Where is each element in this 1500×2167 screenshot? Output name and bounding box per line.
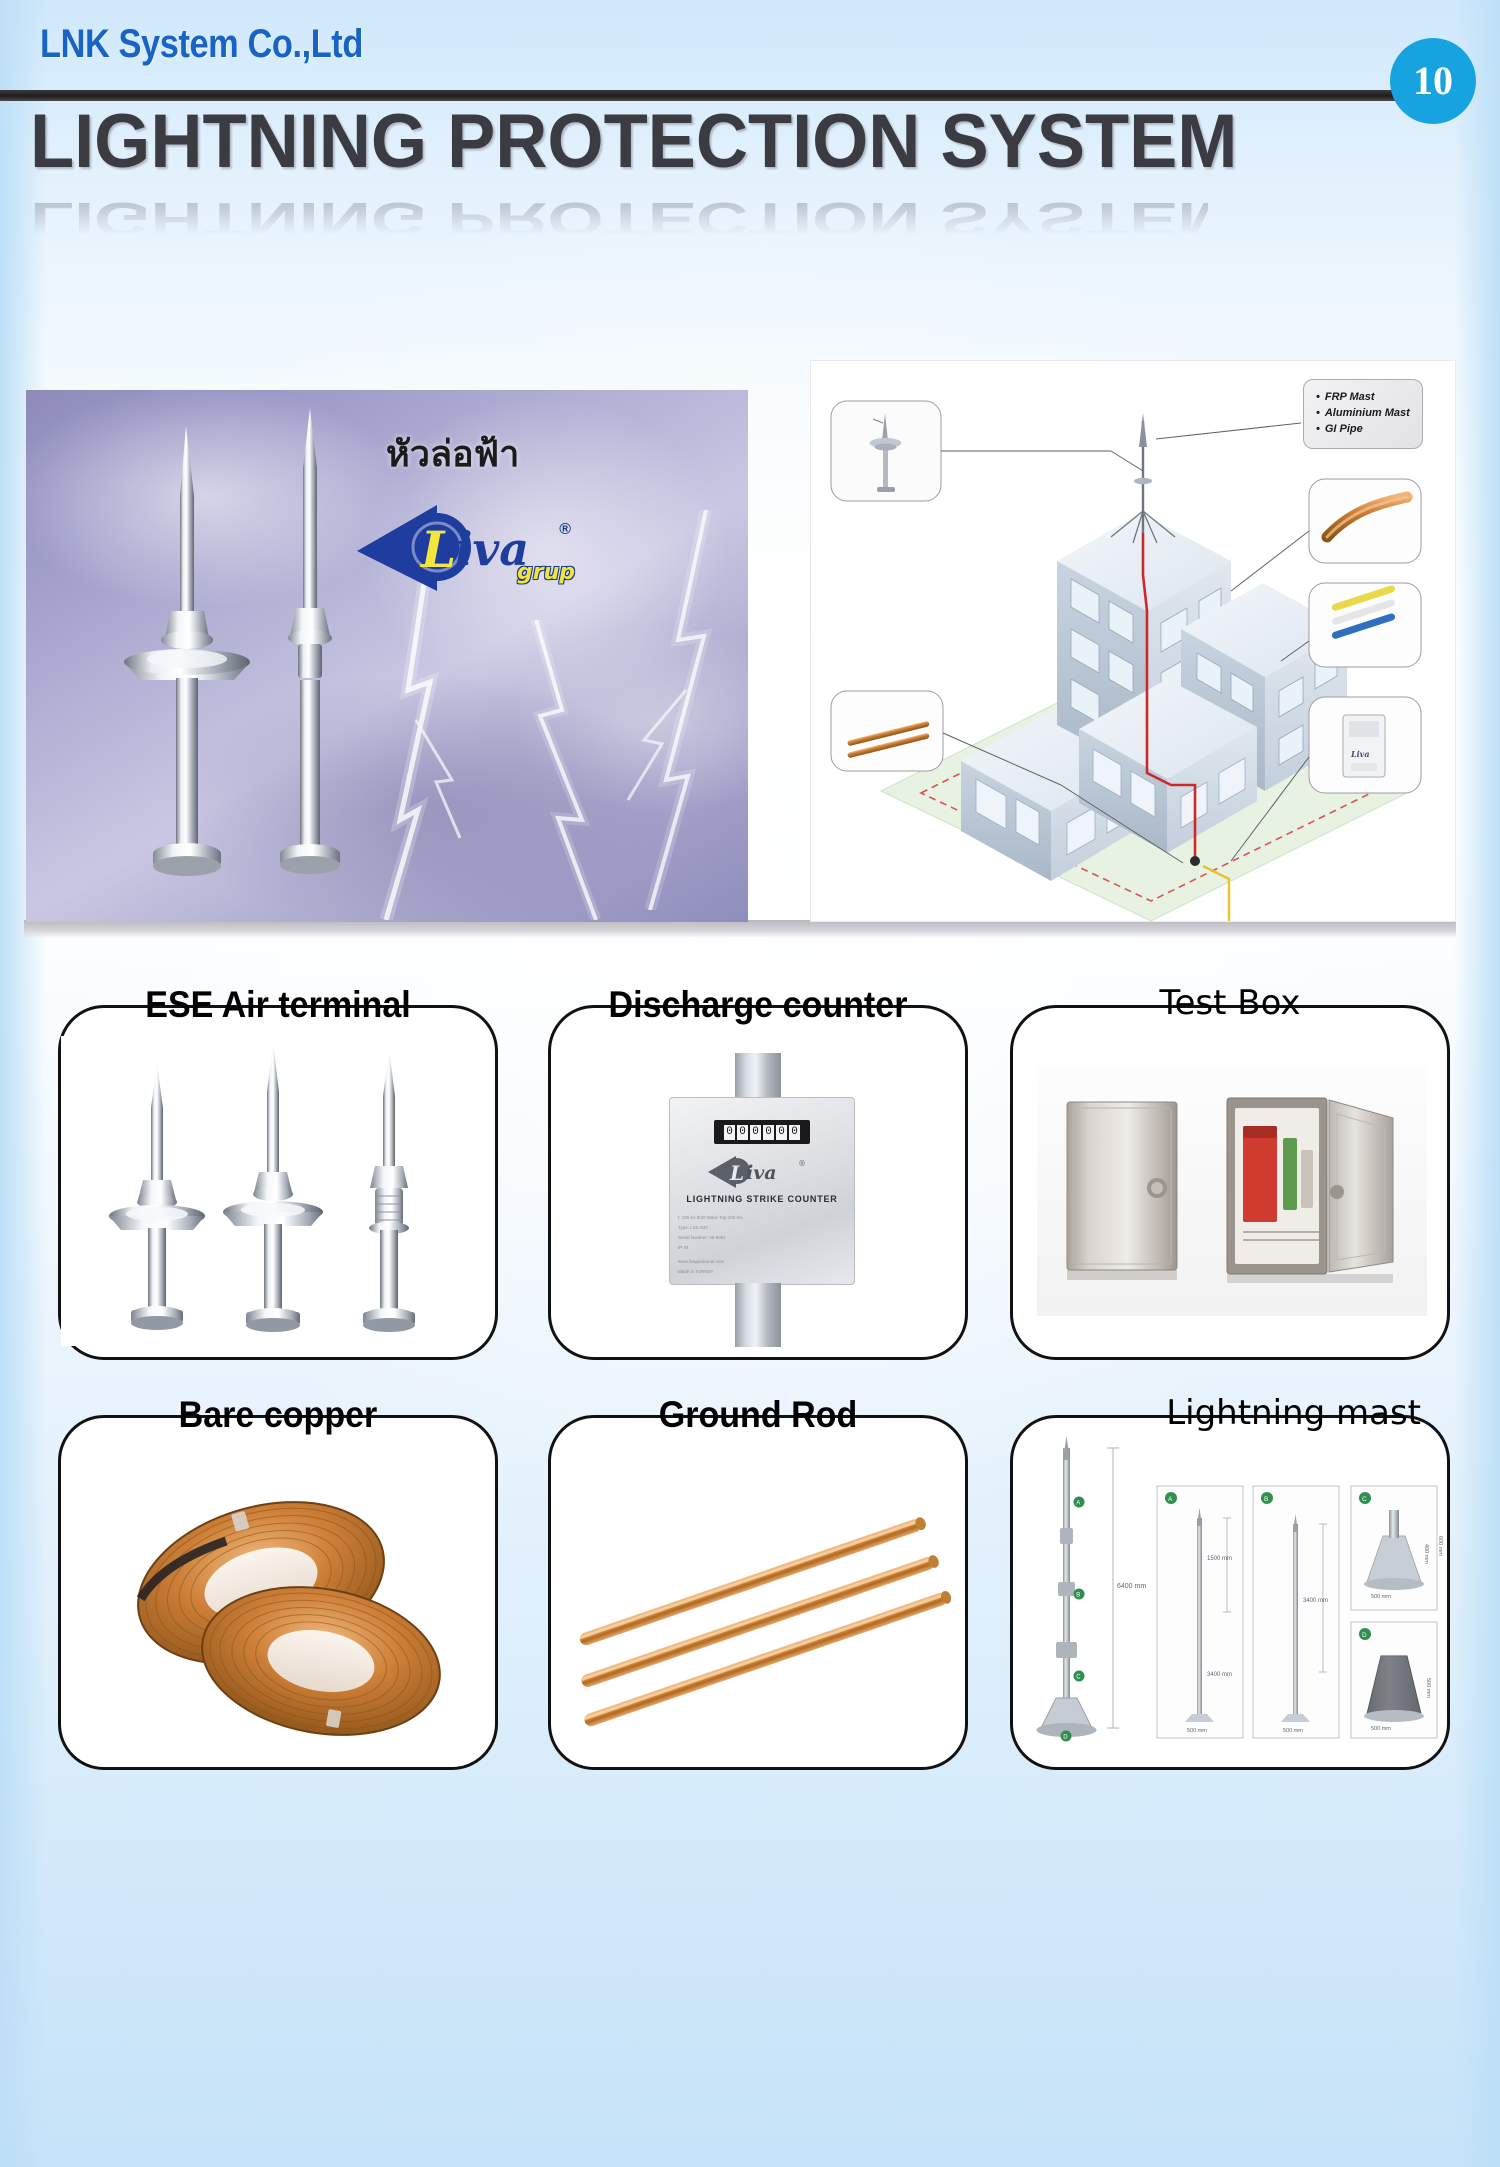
counter-digit: 0 bbox=[776, 1125, 787, 1140]
card-media-test-box bbox=[1037, 1066, 1427, 1316]
product-card-ese-air-terminal[interactable]: ESE Air terminal bbox=[58, 1005, 498, 1360]
svg-text:B: B bbox=[1076, 1593, 1080, 1599]
storm-photo: หัวล่อฟ้า L iva ® grup bbox=[26, 390, 748, 922]
counter-spec-line: I: 100 kA 8/20 Wave Top 100 ms bbox=[678, 1214, 743, 1221]
svg-text:A: A bbox=[1076, 1501, 1080, 1507]
card-title-lightning-mast: Lightning mast bbox=[1013, 1396, 1447, 1430]
page-header: LNK System Co.,Ltd 10 bbox=[0, 0, 1500, 100]
company-name: LNK System Co.,Ltd bbox=[40, 22, 363, 67]
card-title-ese-air-terminal: ESE Air terminal bbox=[78, 986, 477, 1023]
product-card-discharge-counter[interactable]: Discharge counter 0 0 0 0 0 0 L iva bbox=[548, 1005, 968, 1360]
mast-callout-list: FRP Mast Aluminium Mast GI Pipe bbox=[1316, 390, 1412, 438]
product-card-bare-copper[interactable]: Bare copper bbox=[58, 1415, 498, 1770]
page-title-block: LIGHTNING PROTECTION SYSTEM LIGHTNING PR… bbox=[30, 104, 1270, 264]
counter-digit: 0 bbox=[789, 1125, 800, 1140]
counter-digit-window: 0 0 0 0 0 0 bbox=[714, 1120, 810, 1144]
ground-rod-photo bbox=[551, 1488, 971, 1738]
liva-sub-label: grup bbox=[517, 560, 575, 585]
counter-digit: 0 bbox=[737, 1125, 748, 1140]
mast-callout-box: FRP Mast Aluminium Mast GI Pipe bbox=[1303, 379, 1423, 449]
svg-text:Liva: Liva bbox=[1350, 749, 1370, 759]
svg-text:C: C bbox=[1362, 1496, 1367, 1503]
counter-spec-line: Made in TURKEY bbox=[678, 1268, 713, 1275]
liva-logo: L iva ® grup bbox=[351, 495, 581, 595]
ese-air-terminal-photo bbox=[61, 1036, 481, 1346]
mast-dimension-label: 500 mm bbox=[1425, 1678, 1431, 1698]
bare-copper-photo bbox=[71, 1473, 491, 1758]
mast-callout-item: Aluminium Mast bbox=[1316, 406, 1412, 422]
thai-caption: หัวล่อฟ้า bbox=[386, 425, 519, 482]
counter-body: 0 0 0 0 0 0 L iva ® LIGHTNING STRIKE COU… bbox=[669, 1097, 855, 1285]
air-terminal-rod-icon bbox=[114, 426, 264, 896]
page-title: LIGHTNING PROTECTION SYSTEM bbox=[30, 104, 1208, 180]
counter-spec-line: www.livaparatoner.com bbox=[678, 1258, 724, 1265]
counter-digit: 0 bbox=[763, 1125, 774, 1140]
product-card-ground-rod[interactable]: Ground Rod bbox=[548, 1415, 968, 1770]
lightning-bolt-icon bbox=[496, 620, 636, 920]
card-media-discharge-counter: 0 0 0 0 0 0 L iva ® LIGHTNING STRIKE COU… bbox=[551, 1053, 971, 1353]
installation-diagram: Liva FRP Mast Aluminium Mast GI Pipe bbox=[810, 360, 1456, 922]
mast-dimension-label: 500 mm bbox=[1371, 1594, 1391, 1600]
page-number-badge: 10 bbox=[1390, 38, 1476, 124]
svg-text:®: ® bbox=[798, 1159, 806, 1168]
card-title-ground-rod: Ground Rod bbox=[568, 1396, 949, 1433]
svg-text:D: D bbox=[1362, 1632, 1367, 1639]
liva-trademark: ® bbox=[559, 521, 571, 539]
mast-dimension-label: 3400 mm bbox=[1207, 1672, 1232, 1678]
svg-text:iva: iva bbox=[746, 1162, 777, 1184]
counter-subtitle: LIGHTNING STRIKE COUNTER bbox=[670, 1194, 854, 1204]
counter-liva-logo-icon: L iva ® bbox=[706, 1152, 818, 1190]
mast-dimension-label: 500 mm bbox=[1371, 1726, 1391, 1732]
card-media-ground-rod bbox=[551, 1488, 971, 1738]
counter-digit: 0 bbox=[724, 1125, 735, 1140]
svg-text:L: L bbox=[419, 520, 456, 579]
lightning-mast-drawing: 6400 mm A B C D A 1500 m bbox=[1021, 1432, 1445, 1762]
svg-text:B: B bbox=[1264, 1496, 1268, 1503]
card-title-test-box: Test Box bbox=[1013, 986, 1447, 1020]
background-edge-right bbox=[1454, 0, 1500, 2167]
svg-text:A: A bbox=[1168, 1496, 1173, 1503]
mast-dimension-label: 3400 mm bbox=[1303, 1598, 1328, 1604]
mast-dimension-label: 400 mm bbox=[1423, 1544, 1429, 1564]
svg-text:C: C bbox=[1076, 1675, 1081, 1681]
card-media-lightning-mast: 6400 mm A B C D A 1500 m bbox=[1021, 1432, 1445, 1762]
product-card-test-box[interactable]: Test Box bbox=[1010, 1005, 1450, 1360]
mast-dimension-label: 600 mm bbox=[1437, 1536, 1443, 1556]
counter-mount-bracket-bottom bbox=[735, 1283, 781, 1347]
air-terminal-rod-icon bbox=[256, 408, 366, 896]
svg-text:L: L bbox=[729, 1161, 744, 1185]
lightning-bolt-icon bbox=[616, 510, 746, 910]
card-media-bare-copper bbox=[71, 1473, 491, 1758]
background-edge-left bbox=[0, 0, 46, 2167]
mast-dimension-label: 500 mm bbox=[1283, 1728, 1303, 1734]
lightning-bolt-icon bbox=[356, 570, 486, 920]
card-title-bare-copper: Bare copper bbox=[78, 1396, 477, 1433]
mast-callout-item: FRP Mast bbox=[1316, 390, 1412, 406]
mast-dimension-label: 500 mm bbox=[1187, 1728, 1207, 1734]
hero-media-row: หัวล่อฟ้า L iva ® grup bbox=[0, 360, 1500, 960]
counter-digit: 0 bbox=[750, 1125, 761, 1140]
card-media-ese-air-terminal bbox=[61, 1036, 481, 1346]
test-box-photo bbox=[1037, 1066, 1427, 1316]
counter-spec-line: IP 44 bbox=[678, 1244, 688, 1251]
mast-dimension-label: 1500 mm bbox=[1207, 1556, 1232, 1562]
svg-text:D: D bbox=[1063, 1735, 1068, 1741]
counter-spec-line: Serial Number: 08-9001 bbox=[678, 1234, 726, 1241]
card-title-discharge-counter: Discharge counter bbox=[568, 986, 949, 1023]
mast-callout-item: GI Pipe bbox=[1316, 422, 1412, 438]
mast-dimension-label: 6400 mm bbox=[1117, 1583, 1146, 1590]
product-card-lightning-mast[interactable]: Lightning mast bbox=[1010, 1415, 1450, 1770]
page-title-reflection: LIGHTNING PROTECTION SYSTEM bbox=[30, 195, 1208, 242]
counter-spec-line: Type: LSC-04T bbox=[678, 1224, 708, 1231]
